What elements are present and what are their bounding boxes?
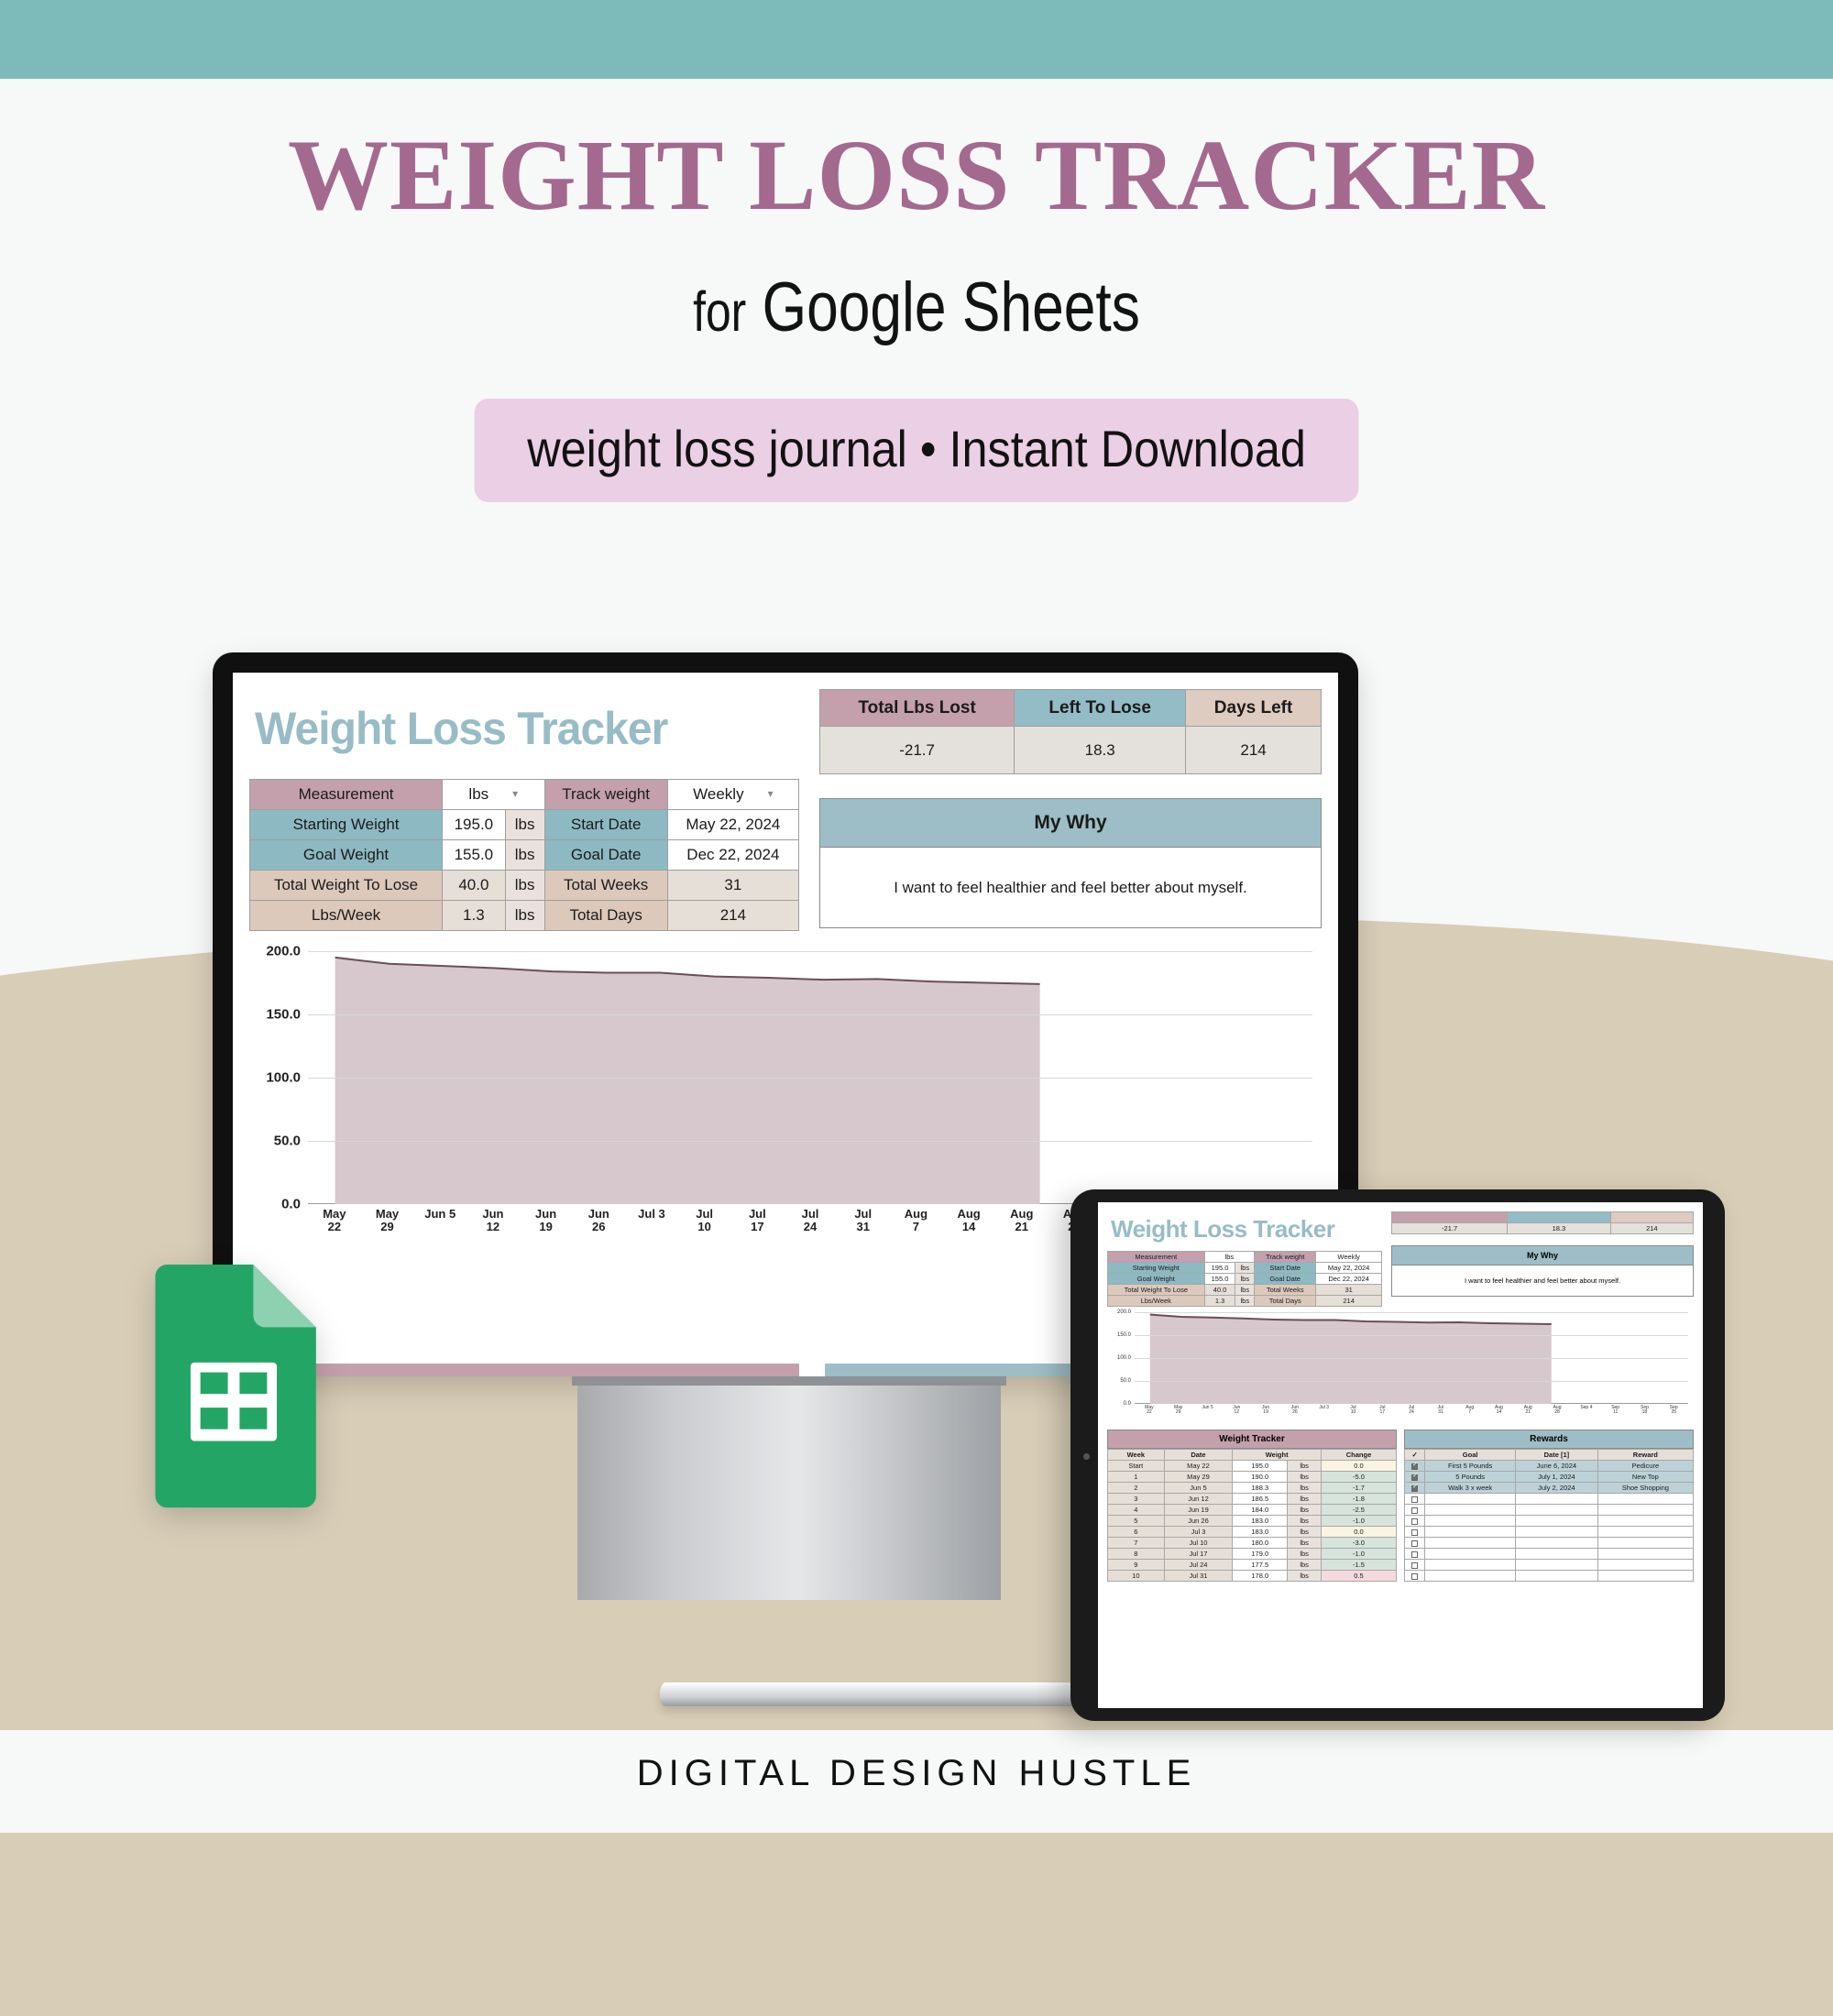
change-cell: -1.5: [1322, 1560, 1397, 1571]
x-tick-label: Jun19: [1251, 1406, 1280, 1416]
peek-bar-mauve: [249, 1364, 799, 1376]
goal-cell[interactable]: Walk 3 x week: [1425, 1483, 1516, 1494]
tablet-spreadsheet-view: Weight Loss Tracker Measurement lbs Trac…: [1098, 1202, 1703, 1582]
date-cell[interactable]: [1516, 1527, 1598, 1538]
start-date-label: Start Date: [544, 810, 667, 840]
starting-weight-label: Starting Weight: [250, 810, 443, 840]
starting-weight-value[interactable]: 195.0: [443, 810, 506, 840]
date-cell: May 29: [1164, 1472, 1233, 1483]
weight-tracker-title: Weight Tracker: [1107, 1430, 1397, 1449]
gridline: [308, 1141, 1312, 1142]
page-title: WEIGHT LOSS TRACKER: [0, 125, 1833, 225]
change-cell: -2.5: [1322, 1505, 1397, 1516]
unit-cell: lbs: [1288, 1571, 1322, 1582]
x-tick-label: Aug14: [942, 1208, 995, 1244]
goal-weight-value[interactable]: 155.0: [1204, 1274, 1235, 1285]
y-tick-label: 50.0: [274, 1134, 301, 1149]
starting-weight-unit: lbs: [1235, 1263, 1255, 1274]
week-cell: 2: [1108, 1483, 1165, 1494]
column-header: Date: [1164, 1450, 1233, 1461]
measurement-dropdown[interactable]: lbs▾: [443, 780, 544, 810]
tablet-bottom-tables: Weight Tracker WeekDateWeightChangeStart…: [1107, 1430, 1694, 1582]
table-row: 2Jun 5188.3lbs-1.7: [1108, 1483, 1397, 1494]
table-row: [1405, 1494, 1694, 1505]
rewards-title: Rewards: [1404, 1430, 1694, 1449]
total-days-value: 214: [667, 901, 798, 931]
tablet-screen: Weight Loss Tracker Measurement lbs Trac…: [1098, 1202, 1703, 1708]
x-tick-label: Aug21: [995, 1208, 1048, 1244]
table-row: [1405, 1516, 1694, 1527]
x-tick-label: May29: [361, 1208, 414, 1244]
date-cell: Jun 5: [1164, 1483, 1233, 1494]
checkbox-icon[interactable]: [1411, 1540, 1418, 1547]
table-row: 10Jul 31178.0lbs0.5: [1108, 1571, 1397, 1582]
date-cell: Jun 12: [1164, 1494, 1233, 1505]
reward-checkbox[interactable]: [1405, 1549, 1425, 1560]
total-weight-to-lose-unit: lbs: [1235, 1285, 1255, 1296]
tablet-mockup: Weight Loss Tracker Measurement lbs Trac…: [1070, 1189, 1725, 1721]
tablet-weight-chart: 0.050.0100.0150.0200.0 May22May29Jun 5Ju…: [1111, 1312, 1690, 1422]
chart-plot-area: [308, 951, 1312, 1204]
table-row: -21.7 18.3 214: [1392, 1223, 1694, 1234]
column-header: Weight: [1233, 1450, 1322, 1461]
goal-cell[interactable]: [1425, 1571, 1516, 1582]
table-row: 4Jun 19184.0lbs-2.5: [1108, 1505, 1397, 1516]
my-why-header: My Why: [819, 798, 1322, 848]
tablet-camera-dot: [1083, 1453, 1090, 1460]
unit-cell: lbs: [1288, 1538, 1322, 1549]
stat-header-days-left: Days Left: [1610, 1212, 1693, 1223]
x-tick-label: Jul31: [1426, 1406, 1455, 1416]
unit-cell: lbs: [1288, 1505, 1322, 1516]
x-tick-label: Jun26: [572, 1208, 625, 1244]
monitor-neck: [577, 1376, 1001, 1600]
table-row: Starting Weight 195.0 lbs Start Date May…: [250, 810, 799, 840]
unit-cell: lbs: [1288, 1472, 1322, 1483]
measurement-value[interactable]: lbs: [1204, 1252, 1255, 1263]
date-cell[interactable]: [1516, 1494, 1598, 1505]
x-tick-label: Jul24: [784, 1208, 837, 1244]
table-row: Total Lbs Lost Left To Lose Days Left: [820, 690, 1322, 727]
checkbox-icon[interactable]: [1411, 1518, 1418, 1525]
measurement-label: Measurement: [250, 780, 443, 810]
date-cell[interactable]: [1516, 1538, 1598, 1549]
x-tick-label: Jun12: [1222, 1406, 1251, 1416]
reward-checkbox[interactable]: [1405, 1461, 1425, 1472]
weight-cell[interactable]: 179.0: [1233, 1549, 1288, 1560]
goal-weight-value[interactable]: 155.0: [443, 840, 506, 871]
total-days-value: 214: [1316, 1296, 1382, 1307]
x-tick-label: May29: [1164, 1406, 1193, 1416]
settings-table: Measurement lbs▾ Track weight Weekly▾ St…: [249, 779, 799, 931]
table-row: First 5 PoundsJune 6, 2024Pedicure: [1405, 1461, 1694, 1472]
table-row: 1May 29190.0lbs-5.0: [1108, 1472, 1397, 1483]
checkbox-icon[interactable]: [1411, 1551, 1418, 1558]
y-tick-label: 100.0: [266, 1070, 301, 1086]
stats-cards: Total Lbs Lost Left To Lose Days Left -2…: [819, 689, 1322, 774]
week-cell: 6: [1108, 1527, 1165, 1538]
x-tick-label: Aug14: [1485, 1406, 1514, 1416]
lbs-per-week-value: 1.3: [443, 901, 506, 931]
goal-cell[interactable]: 5 Pounds: [1425, 1472, 1516, 1483]
change-cell: -1.0: [1322, 1516, 1397, 1527]
reward-cell[interactable]: New Top: [1597, 1472, 1693, 1483]
table-row: [1405, 1505, 1694, 1516]
week-cell: 7: [1108, 1538, 1165, 1549]
sheet-title: Weight Loss Tracker: [255, 702, 777, 755]
table-row: 5Jun 26183.0lbs-1.0: [1108, 1516, 1397, 1527]
date-cell[interactable]: [1516, 1516, 1598, 1527]
week-cell: Start: [1108, 1461, 1165, 1472]
reward-checkbox[interactable]: [1405, 1472, 1425, 1483]
header-block: WEIGHT LOSS TRACKER for Google Sheets we…: [0, 0, 1833, 502]
total-weight-to-lose-value: 40.0: [443, 871, 506, 901]
sheet-right-column: Total Lbs Lost Left To Lose Days Left -2…: [819, 689, 1322, 931]
reward-cell[interactable]: [1597, 1560, 1693, 1571]
x-tick-label: Aug21: [1513, 1406, 1542, 1416]
reward-checkbox[interactable]: [1405, 1516, 1425, 1527]
x-tick-label: Sep25: [1659, 1406, 1688, 1416]
week-cell: 5: [1108, 1516, 1165, 1527]
column-header: Date [1]: [1516, 1450, 1598, 1461]
x-tick-label: May22: [1135, 1406, 1164, 1416]
column-header: Goal: [1425, 1450, 1516, 1461]
date-cell[interactable]: July 2, 2024: [1516, 1483, 1598, 1494]
track-weight-value[interactable]: Weekly: [1316, 1252, 1382, 1263]
x-tick-label: Jul 3: [625, 1208, 678, 1244]
y-tick-label: 200.0: [1117, 1309, 1131, 1315]
date-cell: Jul 3: [1164, 1527, 1233, 1538]
table-row: Starting Weight 195.0 lbs Start Date May…: [1108, 1263, 1382, 1274]
chart-plot-area: [1135, 1312, 1688, 1404]
total-days-label: Total Days: [1255, 1296, 1316, 1307]
goal-cell[interactable]: [1425, 1538, 1516, 1549]
reward-cell[interactable]: [1597, 1505, 1693, 1516]
date-cell[interactable]: [1516, 1505, 1598, 1516]
stat-header-left-to-lose: Left To Lose: [1508, 1212, 1611, 1223]
date-cell: Jun 26: [1164, 1516, 1233, 1527]
y-tick-label: 150.0: [1117, 1332, 1131, 1338]
footer-brand: DIGITAL DESIGN HUSTLE: [0, 1753, 1833, 1794]
unit-cell: lbs: [1288, 1516, 1322, 1527]
checkbox-icon[interactable]: [1411, 1529, 1418, 1536]
table-row: [1405, 1527, 1694, 1538]
gridline: [1135, 1335, 1688, 1336]
status-badge: weight loss journal • Instant Download: [475, 399, 1359, 502]
tablet-settings-table: Measurement lbs Track weight Weekly Star…: [1107, 1251, 1382, 1307]
start-date-value[interactable]: May 22, 2024: [1316, 1263, 1382, 1274]
table-row: Total Weight To Lose 40.0 lbs Total Week…: [250, 871, 799, 901]
goal-date-value[interactable]: Dec 22, 2024: [667, 840, 798, 871]
total-weight-to-lose-value: 40.0: [1204, 1285, 1235, 1296]
total-days-label: Total Days: [544, 901, 667, 931]
date-cell: Jul 10: [1164, 1538, 1233, 1549]
weight-cell[interactable]: 180.0: [1233, 1538, 1288, 1549]
week-cell: 8: [1108, 1549, 1165, 1560]
unit-cell: lbs: [1288, 1549, 1322, 1560]
goal-weight-unit: lbs: [505, 840, 544, 871]
date-cell[interactable]: July 1, 2024: [1516, 1472, 1598, 1483]
table-row: Lbs/Week 1.3 lbs Total Days 214: [1108, 1296, 1382, 1307]
unit-cell: lbs: [1288, 1527, 1322, 1538]
table-row: Lbs/Week 1.3 lbs Total Days 214: [250, 901, 799, 931]
chevron-down-icon[interactable]: ▾: [768, 787, 774, 800]
y-tick-label: 0.0: [281, 1197, 301, 1212]
total-weeks-value: 31: [667, 871, 798, 901]
track-weight-label: Track weight: [1255, 1252, 1316, 1263]
x-tick-label: Jul10: [1339, 1406, 1368, 1416]
stat-value-left-to-lose: 18.3: [1508, 1223, 1611, 1234]
weight-cell[interactable]: 190.0: [1233, 1472, 1288, 1483]
column-header: Change: [1322, 1450, 1397, 1461]
stat-value-days-left: 214: [1186, 727, 1322, 774]
stat-value-total-lbs-lost: -21.7: [1392, 1223, 1508, 1234]
chart-x-axis: May22May29Jun 5Jun12Jun19Jun26Jul 3Jul10…: [1135, 1406, 1688, 1416]
table-row: Total Lbs Lost Left To Lose Days Left: [1392, 1212, 1694, 1223]
start-date-label: Start Date: [1255, 1263, 1316, 1274]
change-cell: -1.7: [1322, 1483, 1397, 1494]
goal-date-label: Goal Date: [544, 840, 667, 871]
week-cell: 10: [1108, 1571, 1165, 1582]
table-row: -21.7 18.3 214: [820, 727, 1322, 774]
reward-checkbox[interactable]: [1405, 1505, 1425, 1516]
gridline: [1135, 1312, 1688, 1313]
chart-y-axis: 0.050.0100.0150.0200.0: [1111, 1312, 1133, 1404]
date-cell[interactable]: [1516, 1571, 1598, 1582]
tablet-stats-cards: Total Lbs Lost Left To Lose Days Left -2…: [1391, 1211, 1694, 1234]
x-tick-label: Sep18: [1630, 1406, 1660, 1416]
lbs-per-week-value: 1.3: [1204, 1296, 1235, 1307]
reward-checkbox[interactable]: [1405, 1494, 1425, 1505]
stat-header-days-left: Days Left: [1186, 690, 1322, 727]
goal-cell[interactable]: [1425, 1527, 1516, 1538]
lbs-per-week-label: Lbs/Week: [1108, 1296, 1205, 1307]
table-row: Goal Weight 155.0 lbs Goal Date Dec 22, …: [250, 840, 799, 871]
date-cell: Jun 19: [1164, 1505, 1233, 1516]
reward-cell[interactable]: [1597, 1571, 1693, 1582]
change-cell: 0.0: [1322, 1461, 1397, 1472]
table-row: 5 PoundsJuly 1, 2024New Top: [1405, 1472, 1694, 1483]
x-tick-label: Jun 5: [1193, 1406, 1223, 1416]
goal-cell[interactable]: [1425, 1494, 1516, 1505]
date-cell: May 22: [1164, 1461, 1233, 1472]
total-weight-to-lose-label: Total Weight To Lose: [250, 871, 443, 901]
lbs-per-week-unit: lbs: [1235, 1296, 1255, 1307]
sheet-top-row: Weight Loss Tracker Measurement lbs▾ Tra…: [249, 689, 1322, 931]
goal-cell[interactable]: [1425, 1549, 1516, 1560]
unit-cell: lbs: [1288, 1461, 1322, 1472]
goal-date-value[interactable]: Dec 22, 2024: [1316, 1274, 1382, 1285]
table-row: Measurement lbs▾ Track weight Weekly▾: [250, 780, 799, 810]
table-row: Measurement lbs Track weight Weekly: [1108, 1252, 1382, 1263]
change-cell: -3.0: [1322, 1538, 1397, 1549]
checkbox-icon[interactable]: [1411, 1562, 1418, 1569]
stat-value-left-to-lose: 18.3: [1015, 727, 1186, 774]
my-why-text[interactable]: I want to feel healthier and feel better…: [819, 848, 1322, 928]
checkbox-checked-icon[interactable]: [1411, 1485, 1418, 1492]
goal-weight-label: Goal Weight: [1108, 1274, 1205, 1285]
measurement-value: lbs: [468, 785, 488, 803]
x-tick-label: Jul 3: [1310, 1406, 1339, 1416]
reward-cell[interactable]: [1597, 1527, 1693, 1538]
tablet-top-row: Weight Loss Tracker Measurement lbs Trac…: [1107, 1211, 1694, 1307]
weight-cell[interactable]: 195.0: [1233, 1461, 1288, 1472]
table-row: [1405, 1538, 1694, 1549]
x-tick-label: Aug7: [890, 1208, 943, 1244]
reward-cell[interactable]: Shoe Shopping: [1597, 1483, 1693, 1494]
week-cell: 9: [1108, 1560, 1165, 1571]
weight-cell[interactable]: 184.0: [1233, 1505, 1288, 1516]
x-tick-label: Aug7: [1455, 1406, 1485, 1416]
total-weeks-label: Total Weeks: [544, 871, 667, 901]
table-row: [1405, 1560, 1694, 1571]
measurement-label: Measurement: [1108, 1252, 1205, 1263]
table-row: 9Jul 24177.5lbs-1.5: [1108, 1560, 1397, 1571]
stat-header-total-lbs-lost: Total Lbs Lost: [1392, 1212, 1508, 1223]
change-cell: 0.0: [1322, 1527, 1397, 1538]
my-why-header: My Why: [1391, 1245, 1694, 1265]
weight-cell[interactable]: 177.5: [1233, 1560, 1288, 1571]
column-header: Week: [1108, 1450, 1165, 1461]
y-tick-label: 50.0: [1120, 1378, 1131, 1384]
x-tick-label: Jul17: [731, 1208, 785, 1244]
track-weight-value: Weekly: [693, 785, 743, 803]
rewards-section: Rewards ✓GoalDate [1]RewardFirst 5 Pound…: [1404, 1430, 1694, 1582]
reward-checkbox[interactable]: [1405, 1571, 1425, 1582]
weight-cell[interactable]: 188.3: [1233, 1483, 1288, 1494]
table-row: 8Jul 17179.0lbs-1.0: [1108, 1549, 1397, 1560]
stat-value-days-left: 214: [1610, 1223, 1693, 1234]
unit-cell: lbs: [1288, 1494, 1322, 1505]
weight-tracker-table: WeekDateWeightChangeStartMay 22195.0lbs0…: [1107, 1449, 1397, 1582]
reward-cell[interactable]: [1597, 1516, 1693, 1527]
table-row: Goal Weight 155.0 lbs Goal Date Dec 22, …: [1108, 1274, 1382, 1285]
stat-header-left-to-lose: Left To Lose: [1015, 690, 1186, 727]
google-sheets-logo: [136, 1265, 332, 1519]
weight-cell[interactable]: 178.0: [1233, 1571, 1288, 1582]
reward-cell[interactable]: Pedicure: [1597, 1461, 1693, 1472]
badge-row: weight loss journal • Instant Download: [0, 399, 1833, 502]
goal-weight-unit: lbs: [1235, 1274, 1255, 1285]
reward-checkbox[interactable]: [1405, 1560, 1425, 1571]
week-cell: 4: [1108, 1505, 1165, 1516]
table-header-row: ✓GoalDate [1]Reward: [1405, 1450, 1694, 1461]
x-tick-label: Aug28: [1542, 1406, 1572, 1416]
stat-value-total-lbs-lost: -21.7: [820, 727, 1015, 774]
chevron-down-icon[interactable]: ▾: [512, 787, 518, 800]
checkbox-checked-icon[interactable]: [1411, 1474, 1418, 1481]
table-row: Total Weight To Lose 40.0 lbs Total Week…: [1108, 1285, 1382, 1296]
gridline: [308, 951, 1312, 952]
unit-cell: lbs: [1288, 1560, 1322, 1571]
date-cell[interactable]: June 6, 2024: [1516, 1461, 1598, 1472]
weight-cell[interactable]: 183.0: [1233, 1516, 1288, 1527]
spreadsheet-view: Weight Loss Tracker Measurement lbs▾ Tra…: [233, 673, 1338, 1243]
weight-tracker-section: Weight Tracker WeekDateWeightChangeStart…: [1107, 1430, 1397, 1582]
track-weight-dropdown[interactable]: Weekly▾: [667, 780, 798, 810]
checkbox-icon[interactable]: [1411, 1496, 1418, 1503]
change-cell: -1.8: [1322, 1494, 1397, 1505]
lbs-per-week-unit: lbs: [505, 901, 544, 931]
starting-weight-unit: lbs: [505, 810, 544, 840]
lbs-per-week-label: Lbs/Week: [250, 901, 443, 931]
reward-checkbox[interactable]: [1405, 1527, 1425, 1538]
page-subtitle: for Google Sheets: [165, 268, 1668, 347]
x-tick-label: Jun 5: [413, 1208, 466, 1244]
x-tick-label: Sep11: [1601, 1406, 1630, 1416]
column-header: ✓: [1405, 1450, 1425, 1461]
table-row: Walk 3 x weekJuly 2, 2024Shoe Shopping: [1405, 1483, 1694, 1494]
x-tick-label: May22: [308, 1208, 361, 1244]
reward-checkbox[interactable]: [1405, 1538, 1425, 1549]
reward-cell[interactable]: [1597, 1494, 1693, 1505]
date-cell: Jul 31: [1164, 1571, 1233, 1582]
reward-cell[interactable]: [1597, 1549, 1693, 1560]
starting-weight-label: Starting Weight: [1108, 1263, 1205, 1274]
start-date-value[interactable]: May 22, 2024: [667, 810, 798, 840]
table-row: 7Jul 10180.0lbs-3.0: [1108, 1538, 1397, 1549]
starting-weight-value[interactable]: 195.0: [1204, 1263, 1235, 1274]
date-cell[interactable]: [1516, 1560, 1598, 1571]
goal-cell[interactable]: [1425, 1560, 1516, 1571]
column-header: Reward: [1597, 1450, 1693, 1461]
week-cell: 3: [1108, 1494, 1165, 1505]
total-weight-to-lose-label: Total Weight To Lose: [1108, 1285, 1205, 1296]
reward-cell[interactable]: [1597, 1538, 1693, 1549]
change-cell: -5.0: [1322, 1472, 1397, 1483]
table-header-row: WeekDateWeightChange: [1108, 1450, 1397, 1461]
x-tick-label: Jul10: [678, 1208, 731, 1244]
total-weeks-value: 31: [1316, 1285, 1382, 1296]
x-tick-label: Jun26: [1280, 1406, 1310, 1416]
total-weight-to-lose-unit: lbs: [505, 871, 544, 901]
subtitle-rest: Google Sheets: [763, 268, 1140, 346]
change-cell: -1.0: [1322, 1549, 1397, 1560]
table-row: [1405, 1571, 1694, 1582]
gridline: [308, 1014, 1312, 1015]
chart-area-fill: [335, 958, 1040, 1204]
y-tick-label: 150.0: [266, 1007, 301, 1023]
goal-cell[interactable]: First 5 Pounds: [1425, 1461, 1516, 1472]
gridline: [1135, 1381, 1688, 1382]
y-tick-label: 0.0: [1124, 1401, 1131, 1407]
checkbox-icon[interactable]: [1411, 1507, 1418, 1514]
x-tick-label: Jun12: [466, 1208, 520, 1244]
weight-cell[interactable]: 183.0: [1233, 1527, 1288, 1538]
y-tick-label: 200.0: [266, 944, 301, 959]
goal-cell[interactable]: [1425, 1505, 1516, 1516]
checkbox-icon[interactable]: [1411, 1573, 1418, 1580]
subtitle-lead: for: [693, 280, 746, 343]
x-tick-label: Jul24: [1397, 1406, 1426, 1416]
week-cell: 1: [1108, 1472, 1165, 1483]
checkbox-checked-icon[interactable]: [1411, 1463, 1418, 1470]
change-cell: 0.5: [1322, 1571, 1397, 1582]
sheet-left-column: Weight Loss Tracker Measurement lbs▾ Tra…: [249, 689, 799, 931]
weight-cell[interactable]: 186.5: [1233, 1494, 1288, 1505]
date-cell[interactable]: [1516, 1549, 1598, 1560]
table-row: 3Jun 12186.5lbs-1.8: [1108, 1494, 1397, 1505]
x-tick-label: Sep 4: [1572, 1406, 1601, 1416]
tablet-sheet-title: Weight Loss Tracker: [1111, 1215, 1382, 1244]
reward-checkbox[interactable]: [1405, 1483, 1425, 1494]
unit-cell: lbs: [1288, 1483, 1322, 1494]
rewards-table: ✓GoalDate [1]RewardFirst 5 PoundsJune 6,…: [1404, 1449, 1694, 1582]
x-tick-label: Jul17: [1367, 1406, 1397, 1416]
peek-bar-gap: [799, 1364, 825, 1376]
goal-cell[interactable]: [1425, 1516, 1516, 1527]
my-why-text[interactable]: I want to feel healthier and feel better…: [1391, 1265, 1694, 1297]
